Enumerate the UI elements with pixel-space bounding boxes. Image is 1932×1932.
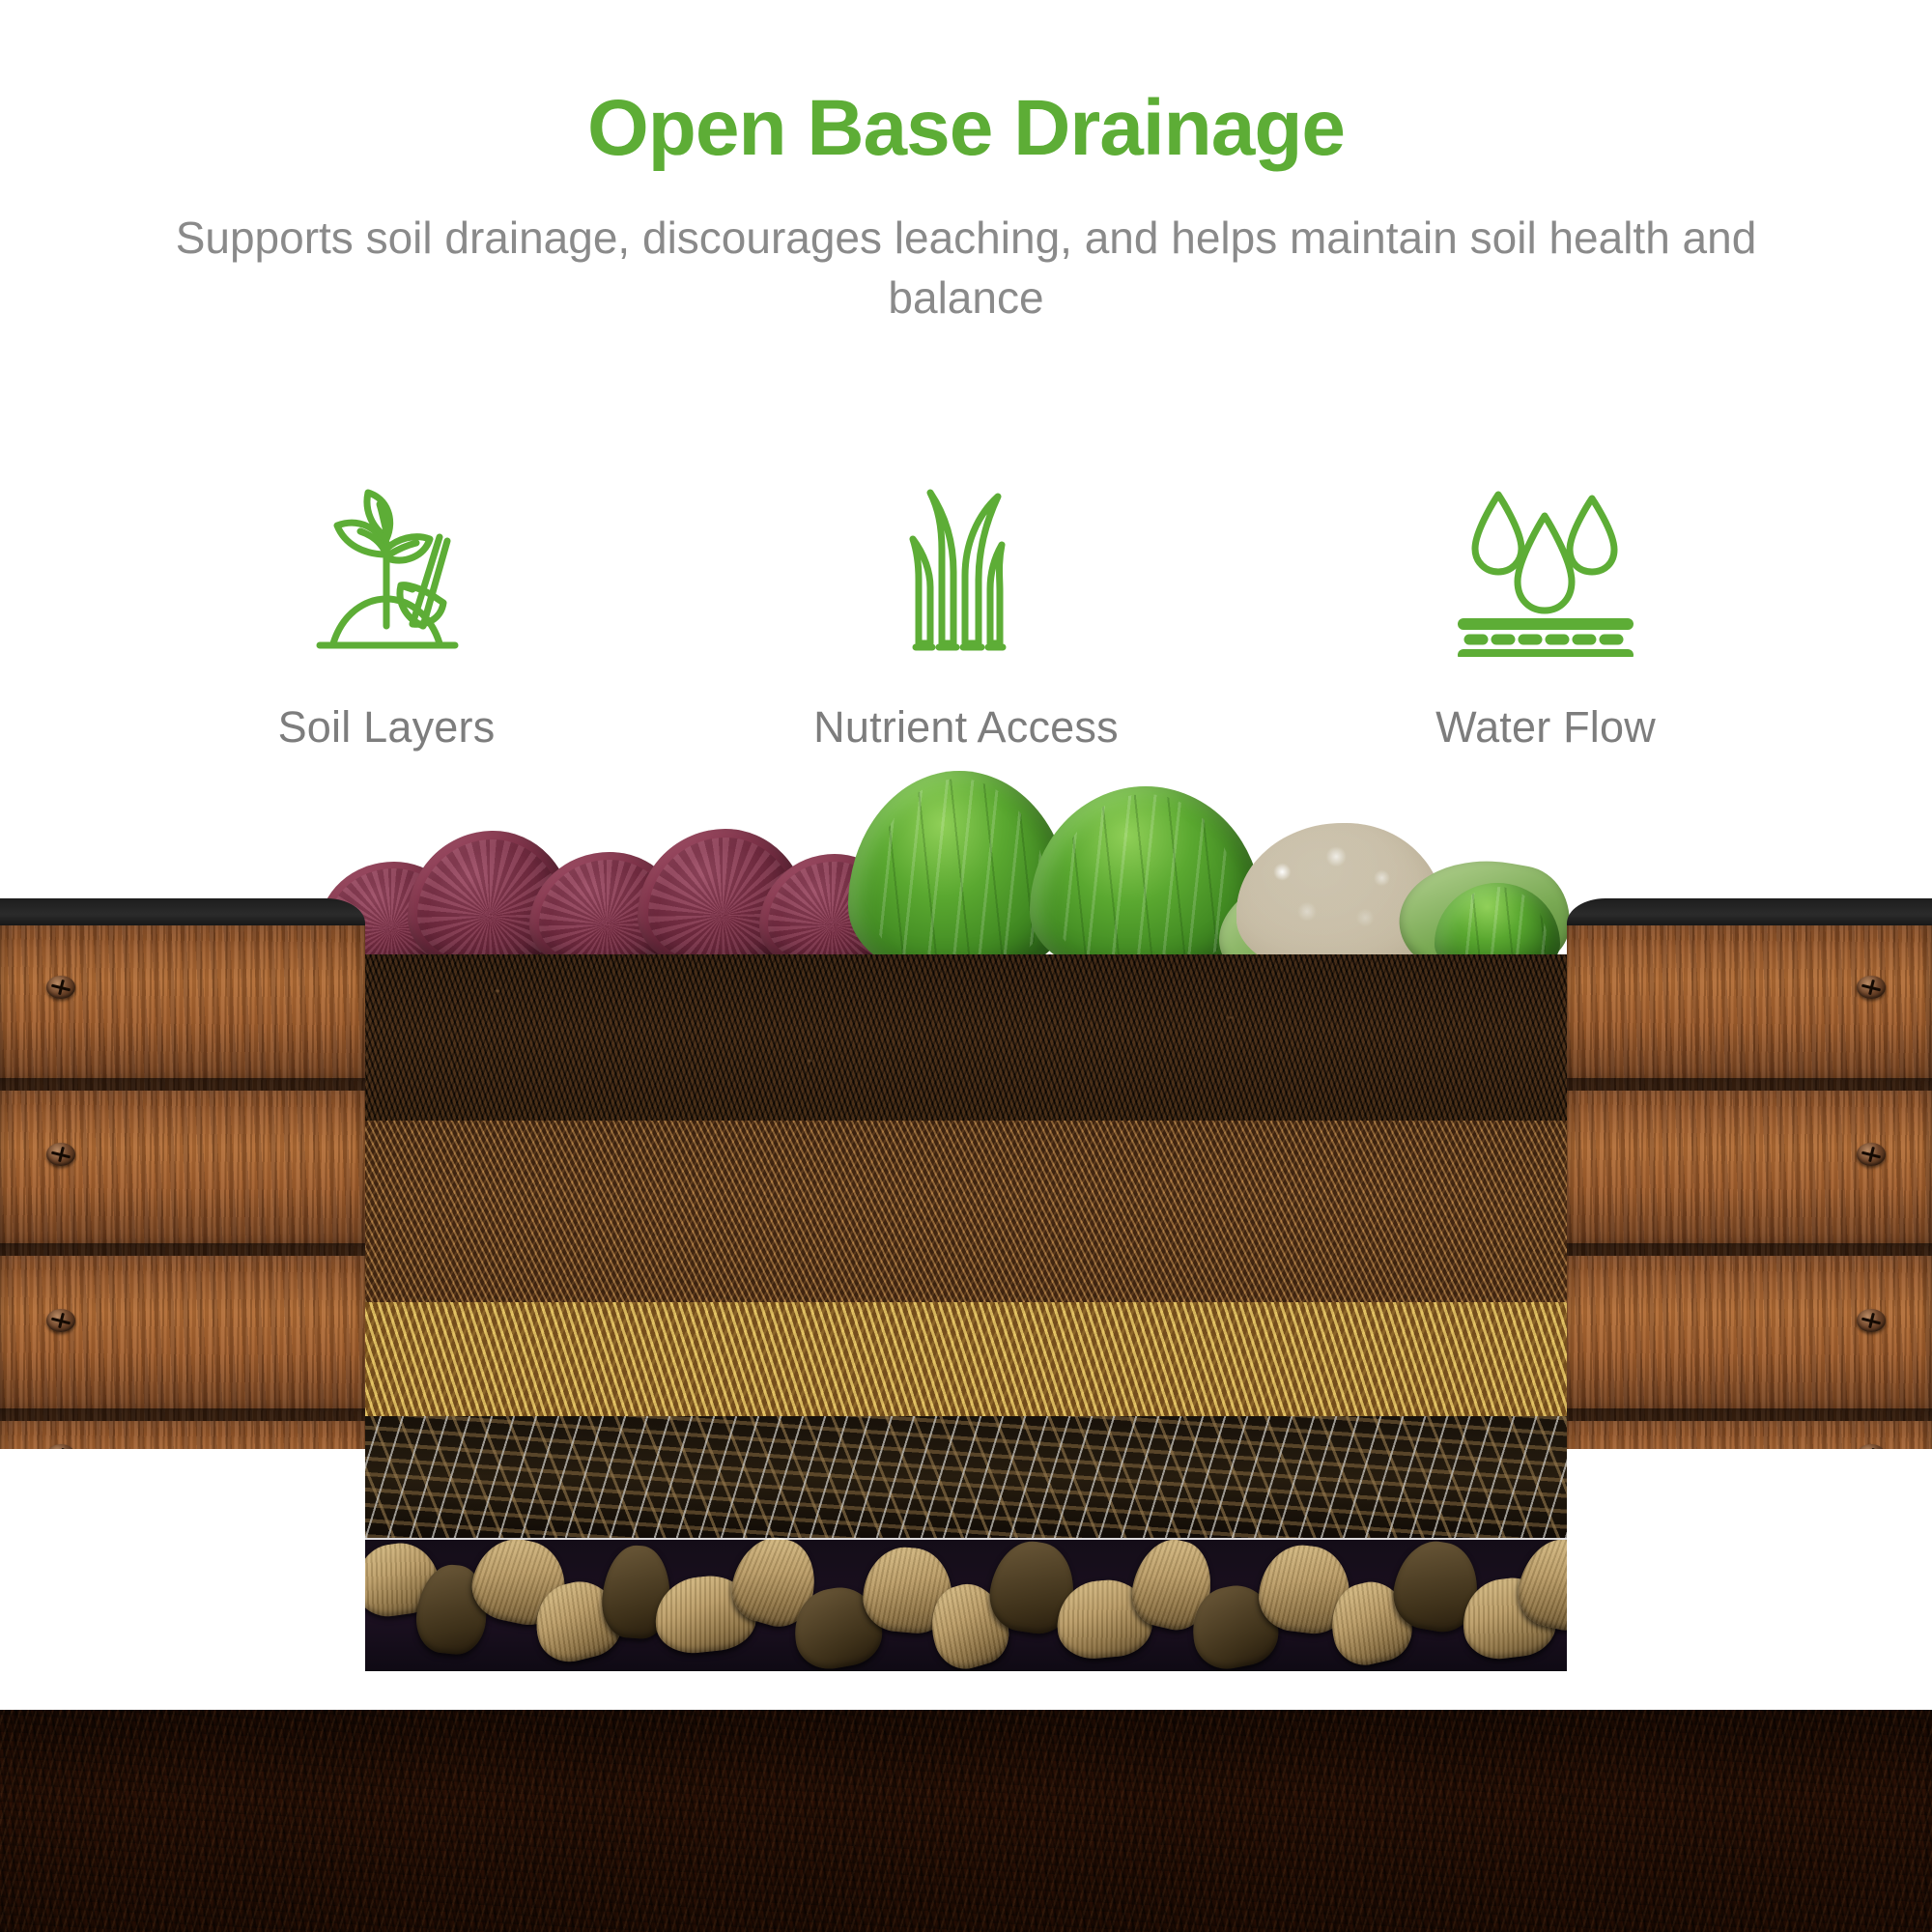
bed-panel-left: [0, 898, 365, 1449]
wood-plank: [1567, 1091, 1932, 1256]
plant-row: [319, 734, 1555, 976]
feature-soil-layers: Soil Layers: [184, 483, 589, 754]
feature-nutrient-access: Nutrient Access: [763, 483, 1169, 754]
wood-plank: [0, 925, 365, 1091]
water-droplets-soil-icon: [1454, 483, 1637, 657]
wood-plank: [1567, 925, 1932, 1091]
liner-edge-highlight: [365, 1538, 1567, 1540]
bed-top-cap: [1567, 898, 1932, 927]
bed-panel-right: [1567, 898, 1932, 1449]
soil-layer-topsoil: [365, 954, 1567, 1121]
header: Open Base Drainage Supports soil drainag…: [0, 0, 1932, 327]
grass-blades-icon: [884, 483, 1048, 657]
wood-plank: [0, 1091, 365, 1256]
screw-icon: [46, 1143, 75, 1166]
wood-plank: [1567, 1256, 1932, 1421]
soil-layer-straw: [365, 1302, 1567, 1416]
plank-stack: [0, 925, 365, 1449]
native-ground-soil: [0, 1710, 1932, 1932]
screw-icon: [1857, 976, 1886, 999]
screw-icon: [46, 1309, 75, 1332]
product-feature-page: Open Base Drainage Supports soil drainag…: [0, 0, 1932, 1932]
raised-garden-bed-cutaway: [0, 734, 1932, 1932]
plank-stack: [1567, 925, 1932, 1449]
screw-icon: [1857, 1143, 1886, 1166]
feature-row: Soil Layers Nutrient Access: [184, 483, 1748, 754]
soil-layer-logs: [365, 1538, 1567, 1671]
page-title: Open Base Drainage: [0, 0, 1932, 168]
screw-icon: [46, 976, 75, 999]
soil-layer-mulch: [365, 1121, 1567, 1302]
screw-icon: [1857, 1444, 1886, 1449]
soil-cross-section: [365, 954, 1567, 1671]
screw-icon: [46, 1444, 75, 1449]
screw-icon: [1857, 1309, 1886, 1332]
wood-plank: [0, 1421, 365, 1449]
wood-plank: [0, 1256, 365, 1421]
soil-layer-twigs: [365, 1416, 1567, 1538]
wood-plank: [1567, 1421, 1932, 1449]
bed-top-cap: [0, 898, 365, 927]
page-subtitle: Supports soil drainage, discourages leac…: [174, 168, 1758, 327]
feature-water-flow: Water Flow: [1343, 483, 1748, 754]
seedling-shovel-icon: [295, 483, 478, 657]
